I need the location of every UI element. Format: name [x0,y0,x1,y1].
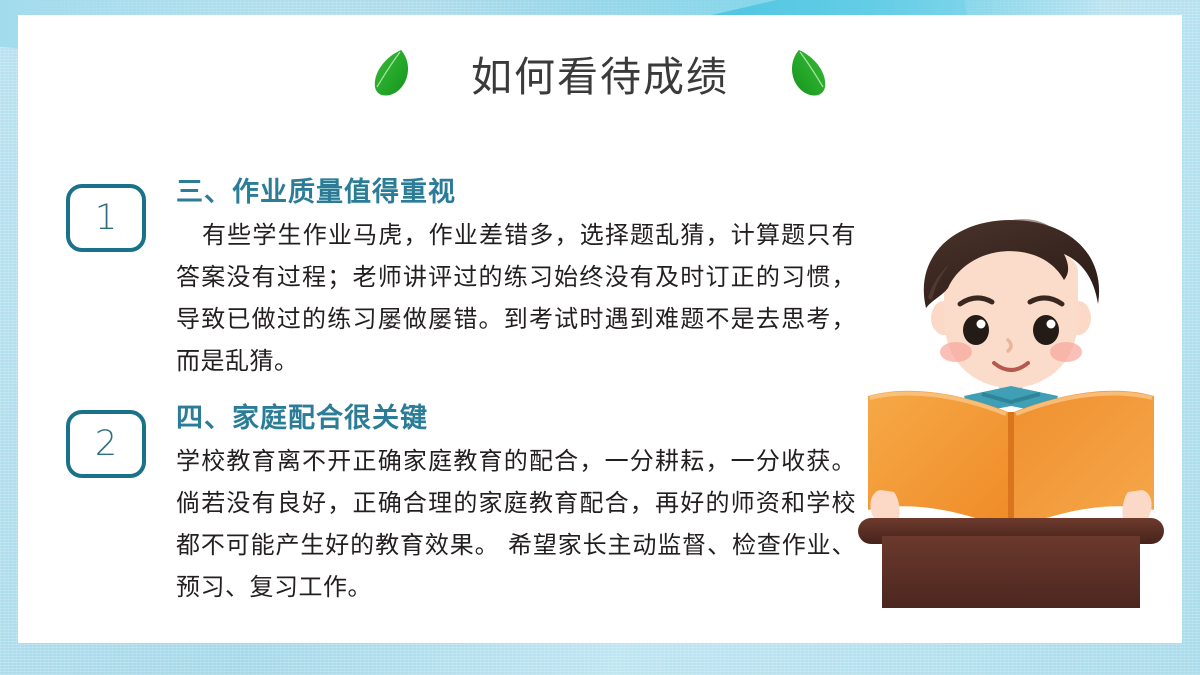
blush-right [1050,342,1082,362]
book-spine [1008,412,1014,530]
number-badge-2: 2 [66,410,146,478]
section-body-2: 学校教育离不开正确家庭教育的配合，一分耕耘，一分收获。倘若没有良好，正确合理的家… [176,440,856,608]
slide: 如何看待成绩 1 三、作业质量值得重视 有些学生作业马虎，作业差错多，选择题乱猜… [0,0,1200,675]
section-heading-1: 三、作业质量值得重视 [176,178,856,208]
eye-right [1033,315,1059,345]
content-block-1-text: 三、作业质量值得重视 有些学生作业马虎，作业差错多，选择题乱猜，计算题只有答案没… [176,178,856,382]
boy-reading-book-at-desk-illustration [856,200,1166,610]
blush-left [940,342,972,362]
content-block-2: 2 四、家庭配合很关键 学校教育离不开正确家庭教育的配合，一分耕耘，一分收获。倘… [66,404,856,608]
number-badge-label: 2 [95,427,117,462]
page-title: 如何看待成绩 [471,43,729,103]
title-row: 如何看待成绩 [18,43,1182,103]
desk-front [882,536,1140,608]
content-card: 如何看待成绩 1 三、作业质量值得重视 有些学生作业马虎，作业差错多，选择题乱猜… [18,15,1182,643]
eye-left-glint [977,320,986,329]
leaf-icon [787,47,833,99]
section-body-1: 有些学生作业马虎，作业差错多，选择题乱猜，计算题只有答案没有过程；老师讲评过的练… [176,214,856,382]
content-block-2-text: 四、家庭配合很关键 学校教育离不开正确家庭教育的配合，一分耕耘，一分收获。倘若没… [176,404,856,608]
eye-left [963,315,989,345]
number-badge-1: 1 [66,184,146,252]
number-badge-label: 1 [95,201,117,236]
leaf-icon [367,47,413,99]
content-block-1: 1 三、作业质量值得重视 有些学生作业马虎，作业差错多，选择题乱猜，计算题只有答… [66,178,856,382]
eye-right-glint [1047,320,1056,329]
section-heading-2: 四、家庭配合很关键 [176,404,856,434]
